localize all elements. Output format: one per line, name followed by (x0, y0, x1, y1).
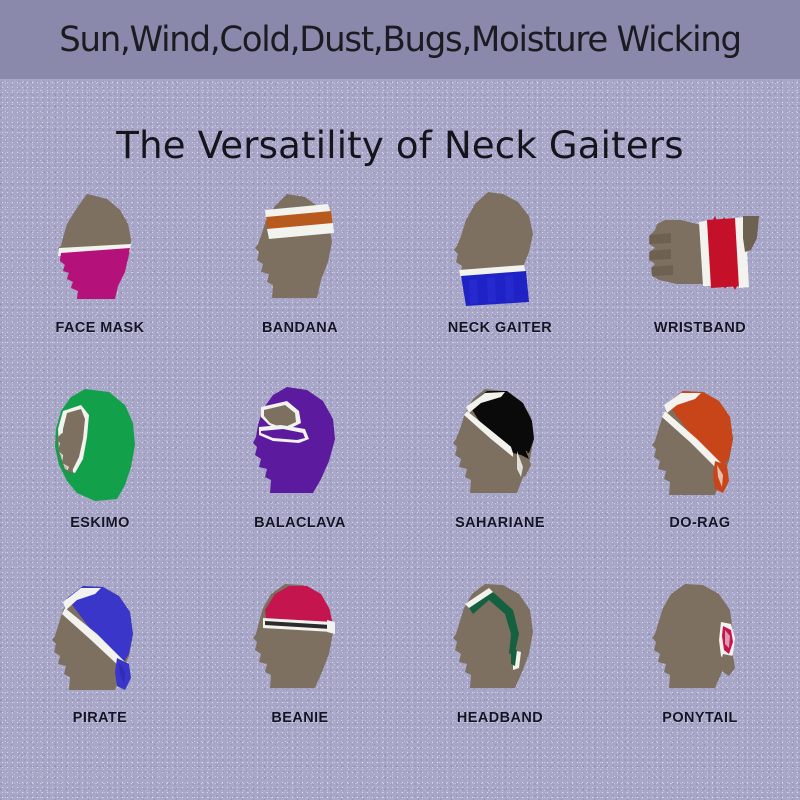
head-with-do-rag-icon (625, 381, 775, 513)
head-with-eskimo-hood-icon (25, 381, 175, 513)
grid-item-headband[interactable]: HEADBAND (400, 576, 600, 771)
head-with-ponytail-icon (625, 576, 775, 708)
item-label: PIRATE (73, 710, 128, 726)
item-label: BALACLAVA (254, 515, 346, 531)
grid-item-neck-gaiter[interactable]: NECK GAITER (400, 186, 600, 381)
grid-item-beanie[interactable]: BEANIE (200, 576, 400, 771)
page-title: The Versatility of Neck Gaiters (0, 124, 800, 167)
item-label: SAHARIANE (455, 515, 545, 531)
infographic-poster: Sun,Wind,Cold,Dust,Bugs,Moisture Wicking… (0, 0, 800, 800)
grid-item-bandana[interactable]: BANDANA (200, 186, 400, 381)
grid-item-ponytail[interactable]: PONYTAIL (600, 576, 800, 771)
head-with-sahariane-icon (425, 381, 575, 513)
item-label: FACE MASK (56, 320, 145, 336)
grid-item-wristband[interactable]: WRISTBAND (600, 186, 800, 381)
item-label: ESKIMO (70, 515, 130, 531)
head-with-neck-gaiter-icon (425, 186, 575, 318)
grid-item-sahariane[interactable]: SAHARIANE (400, 381, 600, 576)
banner-text: Sun,Wind,Cold,Dust,Bugs,Moisture Wicking (12, 0, 788, 79)
item-label: BEANIE (271, 710, 328, 726)
head-with-pirate-cap-icon (25, 576, 175, 708)
head-with-face-mask-icon (25, 186, 175, 318)
item-label: HEADBAND (457, 710, 543, 726)
head-with-balaclava-icon (225, 381, 375, 513)
fist-with-wristband-icon (625, 186, 775, 318)
grid-item-balaclava[interactable]: BALACLAVA (200, 381, 400, 576)
item-label: PONYTAIL (662, 710, 737, 726)
grid-item-pirate[interactable]: PIRATE (0, 576, 200, 771)
head-with-beanie-icon (225, 576, 375, 708)
head-with-headband-icon (425, 576, 575, 708)
item-label: NECK GAITER (448, 320, 552, 336)
item-label: BANDANA (262, 320, 338, 336)
grid-item-do-rag[interactable]: DO-RAG (600, 381, 800, 576)
item-label: WRISTBAND (654, 320, 746, 336)
grid-item-eskimo[interactable]: ESKIMO (0, 381, 200, 576)
top-banner: Sun,Wind,Cold,Dust,Bugs,Moisture Wicking (0, 0, 800, 79)
grid-item-face-mask[interactable]: FACE MASK (0, 186, 200, 381)
item-label: DO-RAG (669, 515, 730, 531)
head-with-bandana-icon (225, 186, 375, 318)
gaiter-style-grid: FACE MASK BANDANA NECK GAITER (0, 186, 800, 771)
